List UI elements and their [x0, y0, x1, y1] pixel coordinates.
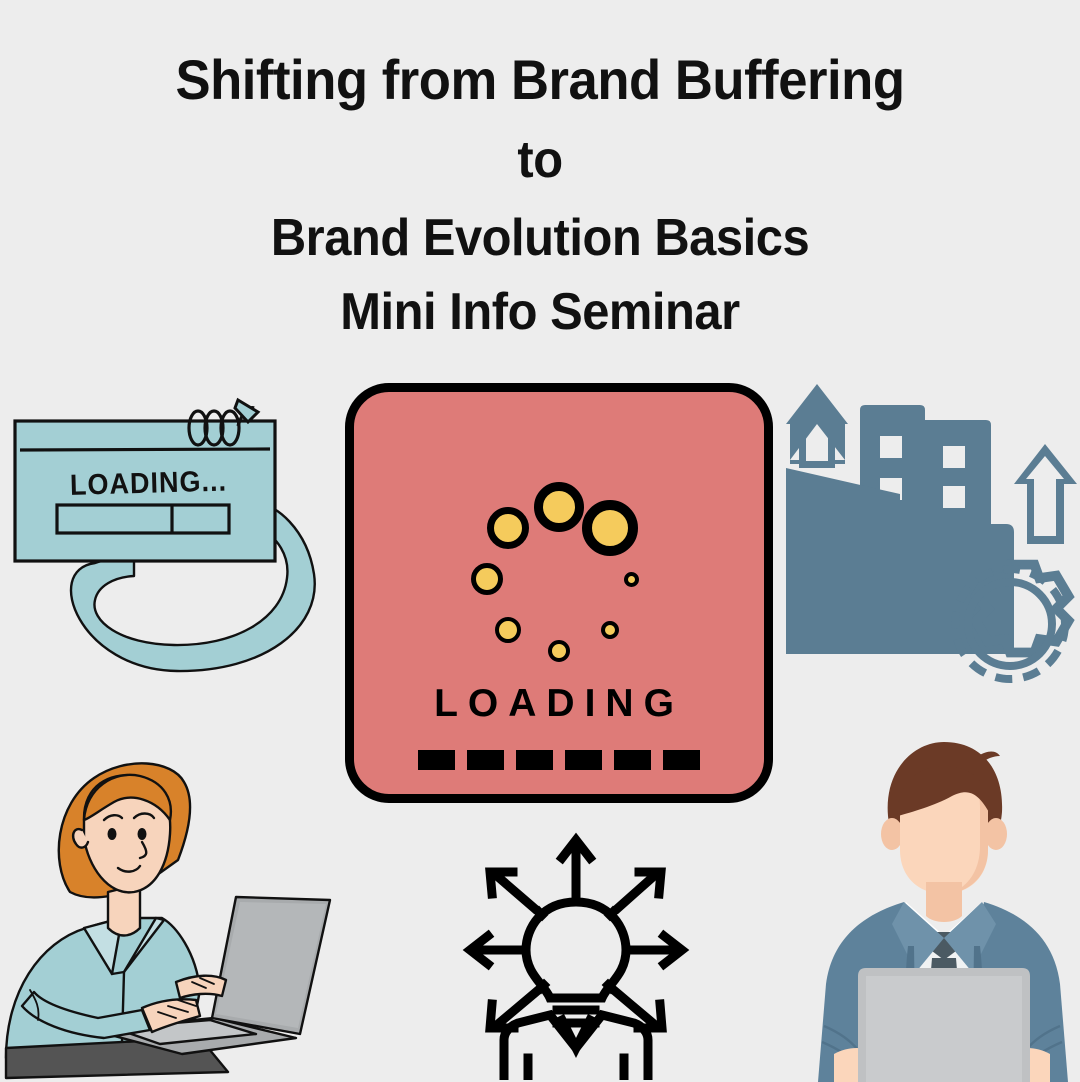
- spinner-dot-8: [624, 572, 639, 587]
- eye-right: [138, 828, 147, 840]
- arrow-up-left-icon: [490, 872, 542, 915]
- spinner-dot-2: [534, 482, 584, 532]
- title-line-2: to: [32, 134, 1047, 186]
- arrow-up-right-icon: [610, 872, 661, 915]
- loading-progress-blocks: [354, 750, 764, 770]
- progress-bar-frame: [57, 505, 229, 533]
- dark-building-window-4: [943, 486, 965, 508]
- spinner-dot-5: [495, 617, 521, 643]
- arrow-up-right-icon: [1014, 444, 1077, 544]
- growing-buildings-illustration: [772, 372, 1080, 692]
- titlebar-divider: [20, 449, 270, 450]
- progress-block-5: [614, 750, 651, 770]
- slanted-building: [786, 468, 900, 654]
- arrow-up-left-icon: [790, 386, 845, 466]
- poster-canvas: { "poster": { "background_color": "#eded…: [0, 0, 1080, 1080]
- ear-right: [985, 818, 1007, 850]
- neck: [926, 882, 962, 922]
- page-title: Shifting from Brand Buffering to Brand E…: [0, 52, 1080, 338]
- laptop-screen: [866, 976, 1022, 1082]
- progress-block-6: [663, 750, 700, 770]
- arrow-up-icon: [562, 840, 590, 894]
- spinner-dot-7: [601, 621, 619, 639]
- progress-block-2: [467, 750, 504, 770]
- progress-block-4: [565, 750, 602, 770]
- progress-block-1: [418, 750, 455, 770]
- spinner-dot-3: [582, 500, 638, 556]
- title-line-4: Mini Info Seminar: [32, 286, 1047, 338]
- buildings-group: [786, 384, 1077, 679]
- title-line-3: Brand Evolution Basics: [32, 212, 1047, 264]
- eye-left: [108, 828, 117, 840]
- progress-block-3: [516, 750, 553, 770]
- businessman-holding-laptop-illustration: [792, 732, 1080, 1082]
- spinner-dot-1: [487, 507, 529, 549]
- arrow-right-icon: [632, 936, 682, 964]
- hand-drawn-loading-window-illustration: [2, 378, 332, 678]
- lightbulb-head-with-arrows-icon: [462, 832, 690, 1080]
- spinner-dot-6: [548, 640, 570, 662]
- arrow-left-icon: [470, 936, 520, 964]
- loading-spinner: [464, 484, 654, 674]
- spinner-dot-4: [471, 563, 503, 595]
- dark-building-window-3: [943, 446, 965, 468]
- ear-left: [881, 818, 903, 850]
- woman-typing-on-laptop-illustration: [0, 742, 335, 1082]
- title-line-1: Shifting from Brand Buffering: [32, 52, 1047, 108]
- loading-card: LOADING: [345, 383, 773, 803]
- window-loading-label: LOADING...: [70, 465, 228, 503]
- dark-building-window-1: [880, 436, 902, 458]
- loading-card-label: LOADING: [354, 682, 764, 726]
